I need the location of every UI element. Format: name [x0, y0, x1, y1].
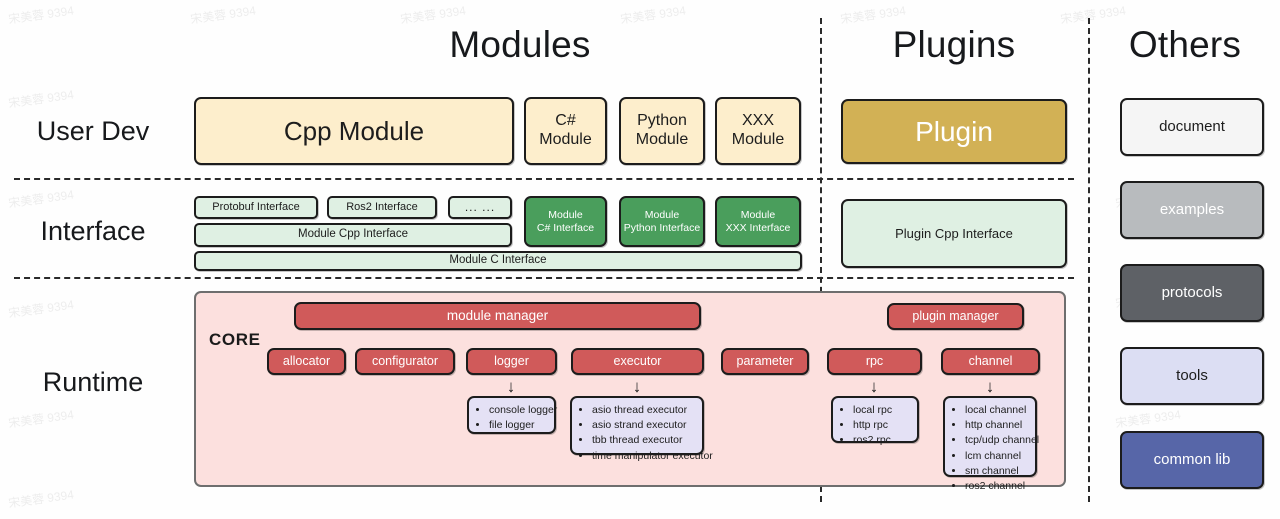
- row-label-runtime: Runtime: [0, 367, 186, 398]
- list-item: sm channel: [965, 464, 1029, 479]
- column-divider-plugins-others: [1088, 18, 1090, 502]
- rpc-children-list: local rpc http rpc ros2 rpc: [841, 403, 911, 449]
- runtime-box-plugin-manager[interactable]: plugin manager: [887, 303, 1024, 330]
- watermark: 宋美蓉 9394: [7, 1, 75, 27]
- runtime-sublist-rpc: local rpc http rpc ros2 rpc: [831, 396, 919, 443]
- runtime-sublist-executor: asio thread executor asio strand executo…: [570, 396, 704, 455]
- core-label: CORE: [209, 330, 261, 350]
- runtime-box-parameter[interactable]: parameter: [721, 348, 809, 375]
- list-item: asio strand executor: [592, 418, 696, 433]
- list-item: local rpc: [853, 403, 911, 418]
- others-box-tools[interactable]: tools: [1120, 347, 1264, 405]
- column-title-others: Others: [1092, 24, 1278, 66]
- list-item: tcp/udp channel: [965, 433, 1029, 448]
- interface-box-plugin-cpp[interactable]: Plugin Cpp Interface: [841, 199, 1067, 268]
- arrow-down-icon: ↓: [866, 378, 882, 395]
- interface-box-more[interactable]: ... ...: [448, 196, 512, 219]
- interface-box-module-xxx[interactable]: Module XXX Interface: [715, 196, 801, 247]
- arrow-down-icon: ↓: [629, 378, 645, 395]
- runtime-sublist-logger: console logger file logger: [467, 396, 556, 434]
- watermark: 宋美蓉 9394: [1114, 405, 1182, 431]
- runtime-box-module-manager[interactable]: module manager: [294, 302, 701, 330]
- list-item: ros2 channel: [965, 479, 1029, 494]
- watermark: 宋美蓉 9394: [7, 85, 75, 111]
- others-box-document[interactable]: document: [1120, 98, 1264, 156]
- row-divider-interface-runtime: [14, 277, 1074, 279]
- watermark: 宋美蓉 9394: [7, 185, 75, 211]
- module-box-xxx[interactable]: XXX Module: [715, 97, 801, 165]
- module-box-cpp[interactable]: Cpp Module: [194, 97, 514, 165]
- others-box-examples[interactable]: examples: [1120, 181, 1264, 239]
- watermark: 宋美蓉 9394: [7, 295, 75, 321]
- arrow-down-icon: ↓: [982, 378, 998, 395]
- interface-box-protobuf[interactable]: Protobuf Interface: [194, 196, 318, 219]
- runtime-box-channel[interactable]: channel: [941, 348, 1040, 375]
- watermark: 宋美蓉 9394: [189, 1, 257, 27]
- column-title-modules: Modules: [390, 24, 650, 66]
- interface-box-module-csharp[interactable]: Module C# Interface: [524, 196, 607, 247]
- list-item: http rpc: [853, 418, 911, 433]
- others-box-common-lib[interactable]: common lib: [1120, 431, 1264, 489]
- module-box-python[interactable]: Python Module: [619, 97, 705, 165]
- watermark: 宋美蓉 9394: [7, 485, 75, 511]
- row-divider-userdev-interface: [14, 178, 1074, 180]
- watermark: 宋美蓉 9394: [7, 405, 75, 431]
- interface-box-module-c[interactable]: Module C Interface: [194, 251, 802, 271]
- executor-children-list: asio thread executor asio strand executo…: [580, 403, 696, 464]
- list-item: file logger: [489, 418, 548, 433]
- row-label-user-dev: User Dev: [0, 116, 186, 147]
- runtime-box-allocator[interactable]: allocator: [267, 348, 346, 375]
- interface-box-module-cpp[interactable]: Module Cpp Interface: [194, 223, 512, 247]
- channel-children-list: local channel http channel tcp/udp chann…: [953, 403, 1029, 494]
- row-label-interface: Interface: [0, 216, 186, 247]
- list-item: http channel: [965, 418, 1029, 433]
- module-box-csharp[interactable]: C# Module: [524, 97, 607, 165]
- plugin-box[interactable]: Plugin: [841, 99, 1067, 164]
- arrow-down-icon: ↓: [503, 378, 519, 395]
- list-item: local channel: [965, 403, 1029, 418]
- list-item: tbb thread executor: [592, 433, 696, 448]
- list-item: console logger: [489, 403, 548, 418]
- runtime-box-logger[interactable]: logger: [466, 348, 557, 375]
- others-box-protocols[interactable]: protocols: [1120, 264, 1264, 322]
- list-item: asio thread executor: [592, 403, 696, 418]
- runtime-box-executor[interactable]: executor: [571, 348, 704, 375]
- column-title-plugins: Plugins: [824, 24, 1084, 66]
- interface-box-module-python[interactable]: Module Python Interface: [619, 196, 705, 247]
- architecture-diagram: 宋美蓉 9394 宋美蓉 9394 宋美蓉 9394 宋美蓉 9394 宋美蓉 …: [0, 0, 1280, 519]
- list-item: ros2 rpc: [853, 433, 911, 448]
- list-item: time manipulator executor: [592, 449, 696, 464]
- runtime-box-rpc[interactable]: rpc: [827, 348, 922, 375]
- runtime-box-configurator[interactable]: configurator: [355, 348, 455, 375]
- list-item: lcm channel: [965, 449, 1029, 464]
- runtime-sublist-channel: local channel http channel tcp/udp chann…: [943, 396, 1037, 477]
- interface-box-ros2[interactable]: Ros2 Interface: [327, 196, 437, 219]
- logger-children-list: console logger file logger: [477, 403, 548, 433]
